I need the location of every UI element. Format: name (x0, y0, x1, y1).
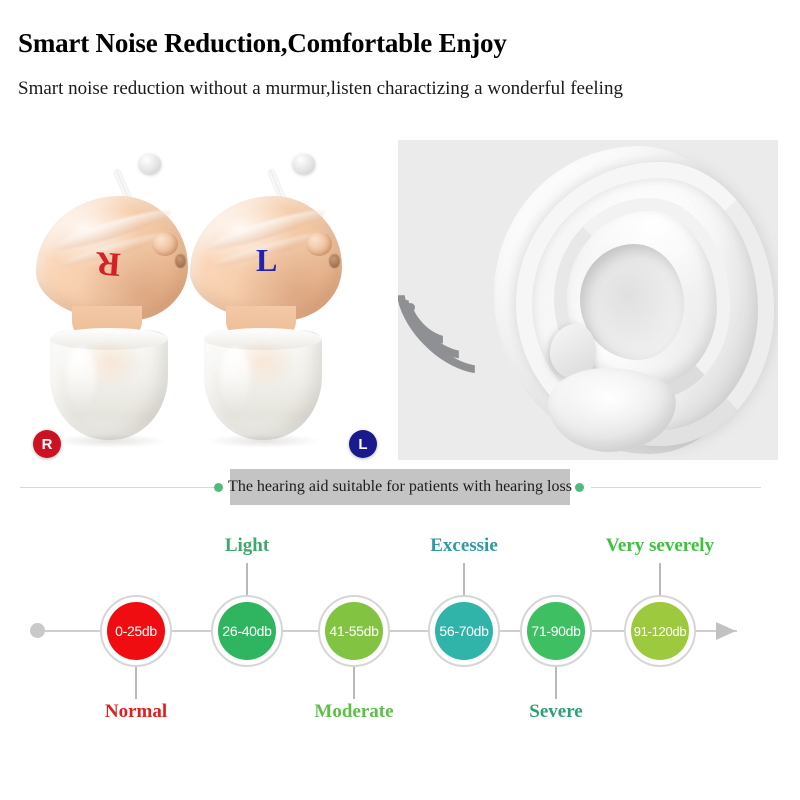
divider-dot-left (214, 483, 223, 492)
hearing-aid-left: L (190, 148, 350, 448)
banner-caption: The hearing aid suitable for patients wi… (230, 469, 570, 505)
scale-leader-2 (353, 667, 355, 699)
aid-mic-port (329, 254, 340, 268)
scale-node-4[interactable]: 71-90db (520, 595, 592, 667)
ear-photo-panel (398, 140, 778, 460)
divider-line-left (20, 487, 216, 488)
divider-line-right (591, 487, 761, 488)
product-photo: R L R L (0, 130, 396, 465)
aid-volume-knob (152, 232, 178, 256)
channel-mark-right: R (95, 245, 122, 281)
scale-node-1-value: 26-40db (218, 602, 276, 660)
hearing-loss-scale: 0-25db Normal 26-40db Light 41-55db Mode… (0, 505, 800, 755)
scale-leader-0 (135, 667, 137, 699)
scale-node-3[interactable]: 56-70db (428, 595, 500, 667)
scale-node-5-value: 91-120db (631, 602, 689, 660)
badge-left: L (349, 430, 377, 458)
drop-shadow (206, 434, 322, 448)
scale-label-5: Very severely (584, 535, 736, 557)
badge-right: R (33, 430, 61, 458)
scale-node-4-value: 71-90db (527, 602, 585, 660)
badge-right-label: R (42, 436, 53, 453)
scale-label-1: Light (171, 535, 323, 557)
scale-leader-5 (659, 563, 661, 595)
drop-shadow (52, 434, 168, 448)
scale-label-2: Moderate (278, 701, 430, 723)
product-infographic: Smart Noise Reduction,Comfortable Enjoy … (0, 0, 800, 800)
scale-node-0-value: 0-25db (107, 602, 165, 660)
dome-highlight (220, 348, 250, 410)
badge-left-label: L (358, 436, 367, 453)
scale-node-3-value: 56-70db (435, 602, 493, 660)
scale-label-0: Normal (60, 701, 212, 723)
scale-node-2[interactable]: 41-55db (318, 595, 390, 667)
scale-node-2-value: 41-55db (325, 602, 383, 660)
aid-mic-port (175, 254, 186, 268)
page-subtitle: Smart noise reduction without a murmur,l… (18, 78, 623, 100)
removal-handle-icon (139, 154, 161, 174)
scale-arrow-icon (716, 622, 736, 640)
scale-leader-4 (555, 667, 557, 699)
scale-node-5[interactable]: 91-120db (624, 595, 696, 667)
divider-dot-right (575, 483, 584, 492)
scale-label-4: Severe (480, 701, 632, 723)
scale-start-dot (30, 623, 45, 638)
scale-node-0[interactable]: 0-25db (100, 595, 172, 667)
scale-leader-3 (463, 563, 465, 595)
aid-volume-knob (306, 232, 332, 256)
scale-node-1[interactable]: 26-40db (211, 595, 283, 667)
page-title: Smart Noise Reduction,Comfortable Enjoy (18, 28, 507, 59)
channel-mark-left: L (256, 244, 277, 276)
scale-leader-1 (246, 563, 248, 595)
scale-label-3: Excessie (388, 535, 540, 557)
dome-highlight (66, 348, 96, 410)
hearing-aid-right: R (36, 148, 196, 448)
removal-handle-icon (293, 154, 315, 174)
